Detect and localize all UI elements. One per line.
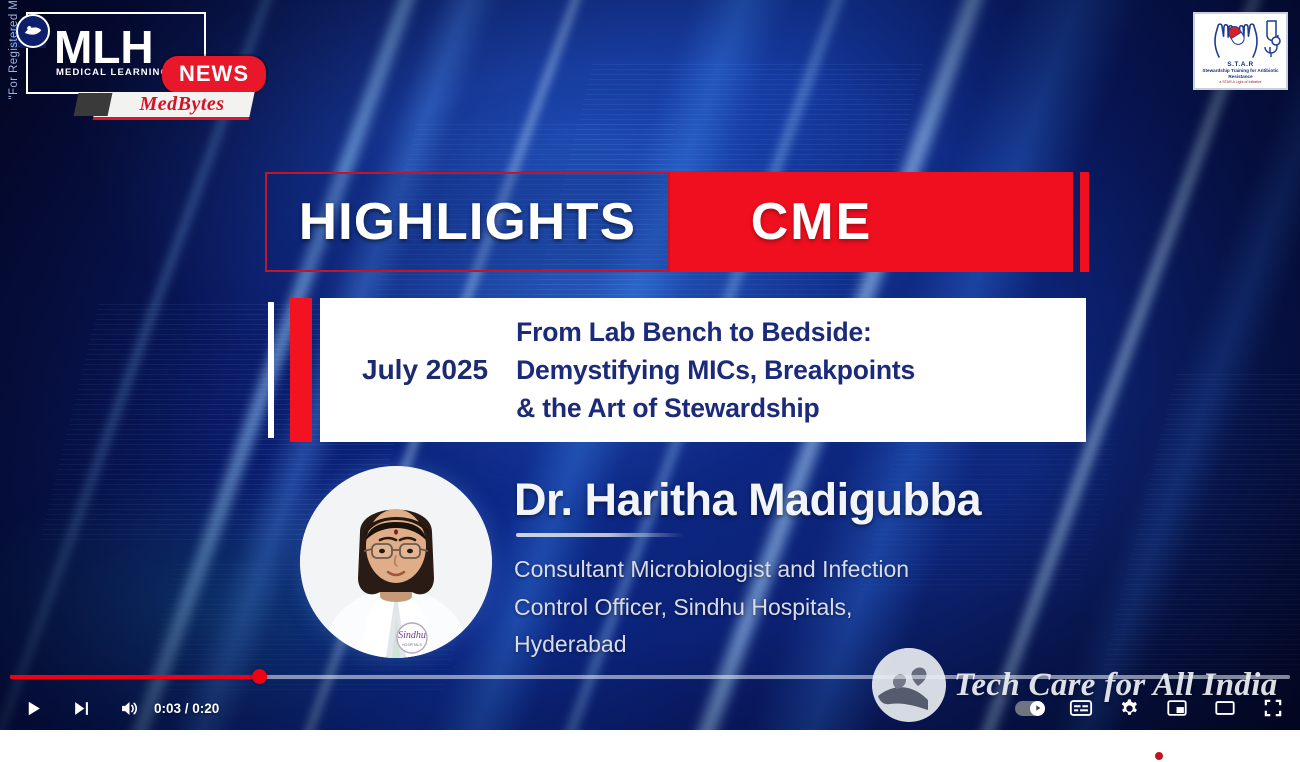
fullscreen-icon — [1262, 697, 1284, 719]
miniplayer-icon — [1166, 697, 1188, 719]
theater-mode-icon — [1214, 697, 1236, 719]
speaker-name: Dr. Haritha Madigubba — [514, 476, 981, 523]
time-display: 0:03 / 0:20 — [154, 686, 219, 730]
speaker-role-line-2: Control Officer, Sindhu Hospitals, — [514, 589, 981, 626]
speaker-avatar: Sindhu HOSPITALS — [300, 466, 492, 658]
medbytes-slashes — [74, 93, 113, 116]
background-line-texture — [1103, 370, 1300, 670]
registered-practitioner-disclaimer: "For Registered Medical Practitioner onl… — [8, 0, 20, 130]
next-button[interactable] — [62, 686, 100, 730]
play-icon — [24, 699, 43, 718]
session-title-line-3: & the Art of Stewardship — [516, 389, 1086, 427]
autoplay-toggle[interactable] — [1008, 686, 1052, 730]
star-acronym: S.T.A.R — [1227, 61, 1254, 68]
autoplay-switch[interactable] — [1015, 701, 1045, 716]
progress-scrubber[interactable] — [252, 669, 267, 684]
title-card-white-accent — [268, 302, 274, 438]
speaker-block: Sindhu HOSPITALS Dr. Haritha Madigubba C… — [300, 466, 981, 663]
progress-bar[interactable] — [0, 668, 1300, 686]
session-title-line-1: From Lab Bench to Bedside: — [516, 313, 1086, 351]
settings-button[interactable] — [1110, 686, 1148, 730]
subtitles-icon — [1069, 696, 1093, 720]
volume-icon — [119, 698, 140, 719]
video-player[interactable]: MLH MEDICAL LEARNING HUB NEWS MedBytes — [0, 0, 1300, 730]
control-button-row: 0:03 / 0:20 — [0, 686, 1300, 730]
mlh-brand-logo: MLH MEDICAL LEARNING HUB NEWS MedBytes — [14, 10, 254, 116]
notification-dot — [1155, 752, 1163, 760]
speaker-details: Dr. Haritha Madigubba Consultant Microbi… — [514, 466, 981, 663]
next-track-icon — [72, 699, 91, 718]
hands-capsule-stethoscope-icon — [1197, 17, 1285, 61]
session-date: July 2025 — [362, 354, 488, 386]
news-badge: NEWS — [162, 56, 266, 93]
speaker-underline — [516, 533, 684, 537]
session-title: From Lab Bench to Bedside: Demystifying … — [516, 313, 1086, 427]
player-controls[interactable]: 0:03 / 0:20 — [0, 668, 1300, 730]
speaker-role: Consultant Microbiologist and Infection … — [514, 551, 981, 663]
title-card-panel: July 2025 From Lab Bench to Bedside: Dem… — [320, 298, 1086, 442]
captions-button[interactable] — [1062, 686, 1100, 730]
medbytes-label: MedBytes — [112, 93, 252, 116]
cme-block: CME — [670, 172, 1073, 272]
highlights-block: HIGHLIGHTS — [265, 172, 670, 272]
highlights-label: HIGHLIGHTS — [299, 192, 636, 252]
star-footnote: a STAR A Light of Initiative — [1219, 80, 1261, 84]
star-partner-logo: S.T.A.R Stewardship Training for Antibio… — [1193, 12, 1288, 90]
gear-icon — [1119, 698, 1140, 719]
volume-button[interactable] — [110, 686, 148, 730]
theater-button[interactable] — [1206, 686, 1244, 730]
star-tagline: Stewardship Training for Antibiotic Resi… — [1199, 68, 1283, 79]
medbytes-lockup: MedBytes — [76, 92, 252, 118]
autoplay-icon — [1034, 704, 1042, 712]
miniplayer-button[interactable] — [1158, 686, 1196, 730]
banner-accent-tick — [1080, 172, 1089, 272]
svg-text:Sindhu: Sindhu — [398, 630, 426, 641]
title-card-red-accent — [290, 298, 312, 442]
fullscreen-button[interactable] — [1254, 686, 1292, 730]
play-button[interactable] — [14, 686, 52, 730]
mlh-wordmark: MLH — [54, 24, 154, 70]
mlh-emblem-icon — [16, 14, 50, 48]
autoplay-knob — [1030, 701, 1045, 716]
cme-label: CME — [751, 192, 873, 252]
session-title-line-2: Demystifying MICs, Breakpoints — [516, 351, 1086, 389]
highlights-cme-banner: HIGHLIGHTS CME — [265, 172, 1075, 274]
svg-text:HOSPITALS: HOSPITALS — [402, 643, 423, 647]
session-title-card: July 2025 From Lab Bench to Bedside: Dem… — [268, 298, 1086, 442]
progress-played — [10, 675, 260, 679]
page-below-player — [0, 730, 1300, 762]
speaker-role-line-1: Consultant Microbiologist and Infection — [514, 551, 981, 588]
